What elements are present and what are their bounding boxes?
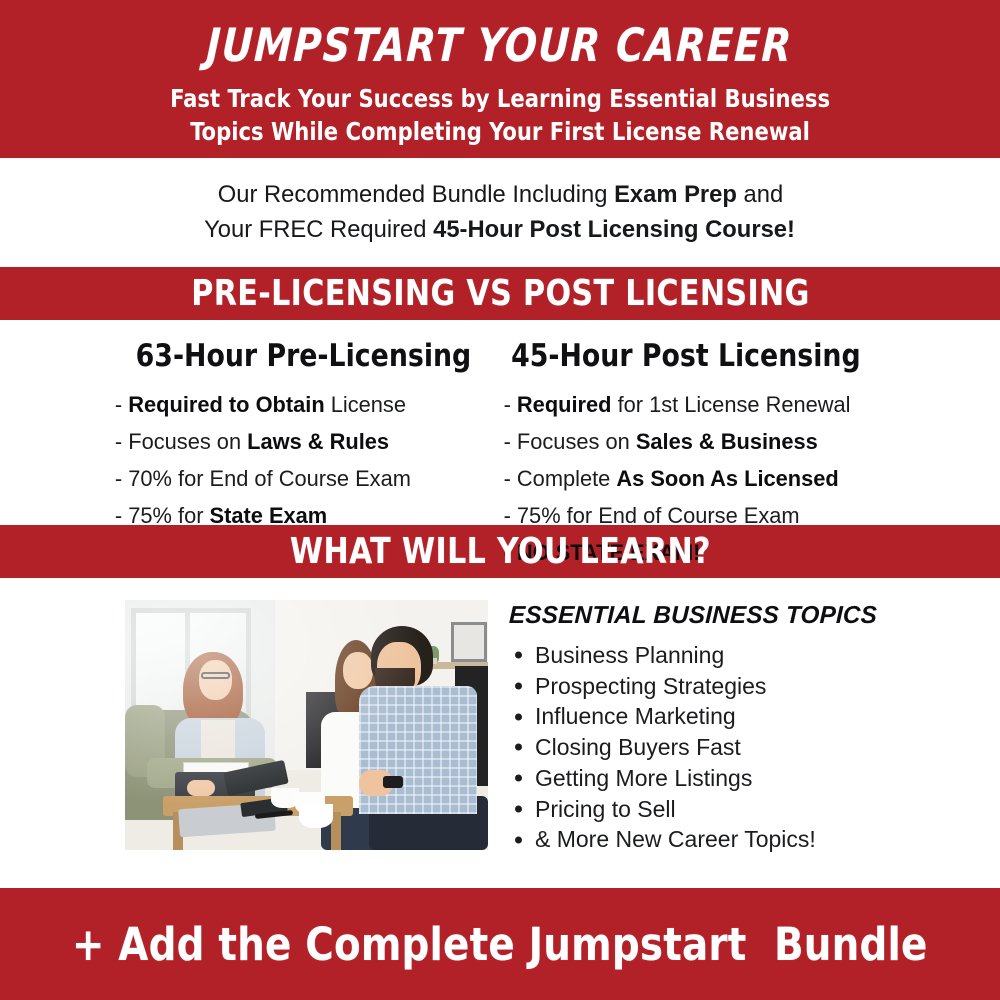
list-item-label: Getting More Listings xyxy=(535,765,752,791)
post-licensing-item: - Focuses on Sales & Business xyxy=(490,424,985,461)
column-post-licensing: 45-Hour Post Licensing - Required for 1s… xyxy=(470,338,1000,515)
topics-heading: ESSENTIAL BUSINESS TOPICS xyxy=(509,602,996,630)
pre-licensing-item: - 75% for State Exam xyxy=(80,498,458,535)
post-licensing-item: - Complete As Soon As Licensed xyxy=(490,461,985,498)
hero-banner: JUMPSTART YOUR CAREER Fast Track Your Su… xyxy=(0,0,1000,158)
bullet-emphasis: Laws & Rules xyxy=(247,429,389,454)
intro-line-2: Your FREC Required 45-Hour Post Licensin… xyxy=(205,213,796,248)
list-item: Influence Marketing xyxy=(509,701,1000,732)
post-licensing-heading: 45-Hour Post Licensing xyxy=(490,338,980,374)
bullet-emphasis: State Exam xyxy=(210,503,328,528)
list-item-label: & More New Career Topics! xyxy=(535,826,816,852)
add-bundle-cta[interactable]: + Add the Complete Jumpstart Bundle xyxy=(0,888,1000,1000)
bullet-dash: - xyxy=(504,429,517,454)
bullet-text: 75% for xyxy=(128,503,209,528)
bullet-text: Complete xyxy=(517,466,616,491)
photo-agent-face xyxy=(199,660,232,700)
list-item-label: Pricing to Sell xyxy=(535,796,676,822)
bullet-dash: - xyxy=(115,466,128,491)
bullet-dash: - xyxy=(115,392,128,417)
bullet-text: 75% for End of Course Exam xyxy=(517,503,800,528)
bullet-text: 70% for End of Course Exam xyxy=(128,466,411,491)
column-pre-licensing: 63-Hour Pre-Licensing - Required to Obta… xyxy=(0,338,470,515)
list-item-label: Business Planning xyxy=(535,642,724,668)
bullet-dash: - xyxy=(504,392,517,417)
topics-list-container: ESSENTIAL BUSINESS TOPICS Business Plann… xyxy=(500,600,1000,874)
bullet-text: for 1st License Renewal xyxy=(612,392,851,417)
learn-banner-title: WHAT WILL YOU LEARN? xyxy=(289,534,710,570)
intro-line-1-text-a: Our Recommended Bundle Including xyxy=(217,181,613,208)
bullet-text: License xyxy=(325,392,406,417)
bullet-emphasis: Sales & Business xyxy=(636,429,818,454)
list-item-label: Closing Buyers Fast xyxy=(535,734,741,760)
pre-licensing-item: - 70% for End of Course Exam xyxy=(80,461,458,498)
bullet-text: Focuses on xyxy=(128,429,247,454)
promo-flyer: JUMPSTART YOUR CAREER Fast Track Your Su… xyxy=(0,0,1000,1000)
bullet-dot-icon xyxy=(515,836,522,843)
photo-wristwatch xyxy=(383,776,403,788)
bullet-dot-icon xyxy=(515,683,522,690)
hero-subtitle: Fast Track Your Success by Learning Esse… xyxy=(170,82,830,149)
bullet-dot-icon xyxy=(515,713,522,720)
bullet-emphasis: As Soon As Licensed xyxy=(616,466,838,491)
meeting-photo xyxy=(125,600,488,850)
bullet-emphasis: Required xyxy=(517,392,612,417)
list-item: Getting More Listings xyxy=(509,763,1000,794)
intro-line-2-emphasis: 45-Hour Post Licensing Course! xyxy=(434,216,796,243)
intro-line-1: Our Recommended Bundle Including Exam Pr… xyxy=(217,178,782,213)
compare-banner-title: PRE-LICENSING VS POST LICENSING xyxy=(191,276,809,312)
pre-licensing-heading: 63-Hour Pre-Licensing xyxy=(80,338,454,374)
photo-container xyxy=(0,600,500,874)
bullet-dash: - xyxy=(115,429,128,454)
photo-picture-frame xyxy=(451,622,487,662)
post-licensing-item: - Required for 1st License Renewal xyxy=(490,387,985,424)
bullet-dot-icon xyxy=(515,744,522,751)
intro-line-1-emphasis: Exam Prep xyxy=(614,181,737,208)
intro-line-2-text-a: Your FREC Required xyxy=(205,216,434,243)
bullet-text: Focuses on xyxy=(517,429,636,454)
photo-cup-3 xyxy=(299,804,333,828)
list-item: Closing Buyers Fast xyxy=(509,732,1000,763)
bullet-dot-icon xyxy=(515,805,522,812)
bullet-emphasis: Required to Obtain xyxy=(128,392,324,417)
bullet-dash: - xyxy=(504,503,517,528)
bullet-dot-icon xyxy=(515,652,522,659)
photo-agent-hand xyxy=(187,780,215,796)
pre-licensing-item: - Focuses on Laws & Rules xyxy=(80,424,458,461)
list-item-label: Influence Marketing xyxy=(535,703,736,729)
hero-subtitle-line-2: Topics While Completing Your First Licen… xyxy=(170,115,830,149)
photo-woman-face xyxy=(343,652,373,689)
page-title: JUMPSTART YOUR CAREER xyxy=(206,22,794,68)
bullet-dash: - xyxy=(504,466,517,491)
bullet-dot-icon xyxy=(515,775,522,782)
compare-banner: PRE-LICENSING VS POST LICENSING xyxy=(0,267,1000,320)
list-item: Prospecting Strategies xyxy=(509,671,1000,702)
learn-section: ESSENTIAL BUSINESS TOPICS Business Plann… xyxy=(0,578,1000,874)
comparison-section: 63-Hour Pre-Licensing - Required to Obta… xyxy=(0,320,1000,525)
list-item: Pricing to Sell xyxy=(509,794,1000,825)
bullet-dash: - xyxy=(115,503,128,528)
intro-section: Our Recommended Bundle Including Exam Pr… xyxy=(0,158,1000,267)
pre-licensing-item: - Required to Obtain License xyxy=(80,387,458,424)
add-bundle-cta-label: + Add the Complete Jumpstart Bundle xyxy=(72,922,928,967)
intro-line-1-text-b: and xyxy=(736,181,782,208)
list-item: Business Planning xyxy=(509,640,1000,671)
post-licensing-item: - 75% for End of Course Exam xyxy=(490,498,985,535)
photo-agent-glasses xyxy=(201,672,230,679)
hero-subtitle-line-1: Fast Track Your Success by Learning Esse… xyxy=(170,82,830,116)
list-item-label: Prospecting Strategies xyxy=(535,673,766,699)
list-item: & More New Career Topics! xyxy=(509,824,1000,855)
